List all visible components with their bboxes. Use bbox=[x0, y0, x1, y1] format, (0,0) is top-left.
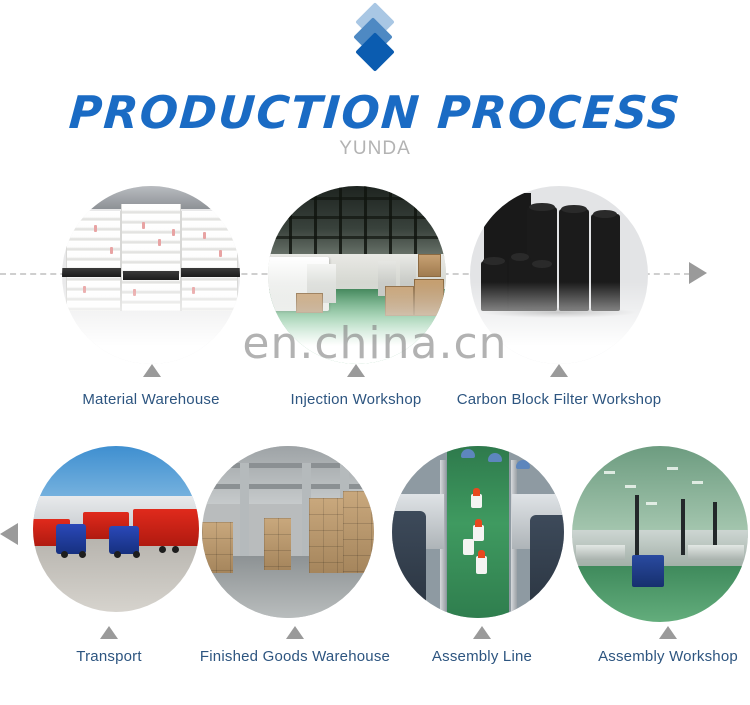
step-label-assembly-workshop: Assembly Workshop bbox=[558, 648, 750, 665]
step-marker-triangle-icon bbox=[550, 364, 568, 377]
step-marker-triangle-icon bbox=[347, 364, 365, 377]
step-label-injection-workshop: Injection Workshop bbox=[256, 391, 456, 408]
assembly-workshop-photo bbox=[572, 446, 748, 622]
brand-subtitle: YUNDA bbox=[0, 138, 750, 160]
step-label-finished-goods-warehouse: Finished Goods Warehouse bbox=[175, 648, 415, 665]
yunda-diamond-logo bbox=[352, 8, 398, 70]
assembly-line-photo bbox=[392, 446, 564, 618]
page-title: PRODUCTION PROCESS bbox=[0, 88, 750, 138]
transport-photo bbox=[33, 446, 199, 612]
step-label-assembly-line: Assembly Line bbox=[382, 648, 582, 665]
flow-arrow-right-icon bbox=[689, 262, 707, 284]
step-label-material-warehouse: Material Warehouse bbox=[51, 391, 251, 408]
step-marker-triangle-icon bbox=[473, 626, 491, 639]
step-marker-triangle-icon bbox=[143, 364, 161, 377]
carbon-block-filter-workshop-photo bbox=[470, 186, 648, 364]
step-marker-triangle-icon bbox=[286, 626, 304, 639]
step-label-carbon-block-filter-workshop: Carbon Block Filter Workshop bbox=[439, 391, 679, 408]
finished-goods-warehouse-photo bbox=[202, 446, 374, 618]
step-marker-triangle-icon bbox=[100, 626, 118, 639]
injection-workshop-photo bbox=[268, 186, 446, 364]
flow-arrow-left-icon bbox=[0, 523, 18, 545]
material-warehouse-photo bbox=[62, 186, 240, 364]
step-marker-triangle-icon bbox=[659, 626, 677, 639]
